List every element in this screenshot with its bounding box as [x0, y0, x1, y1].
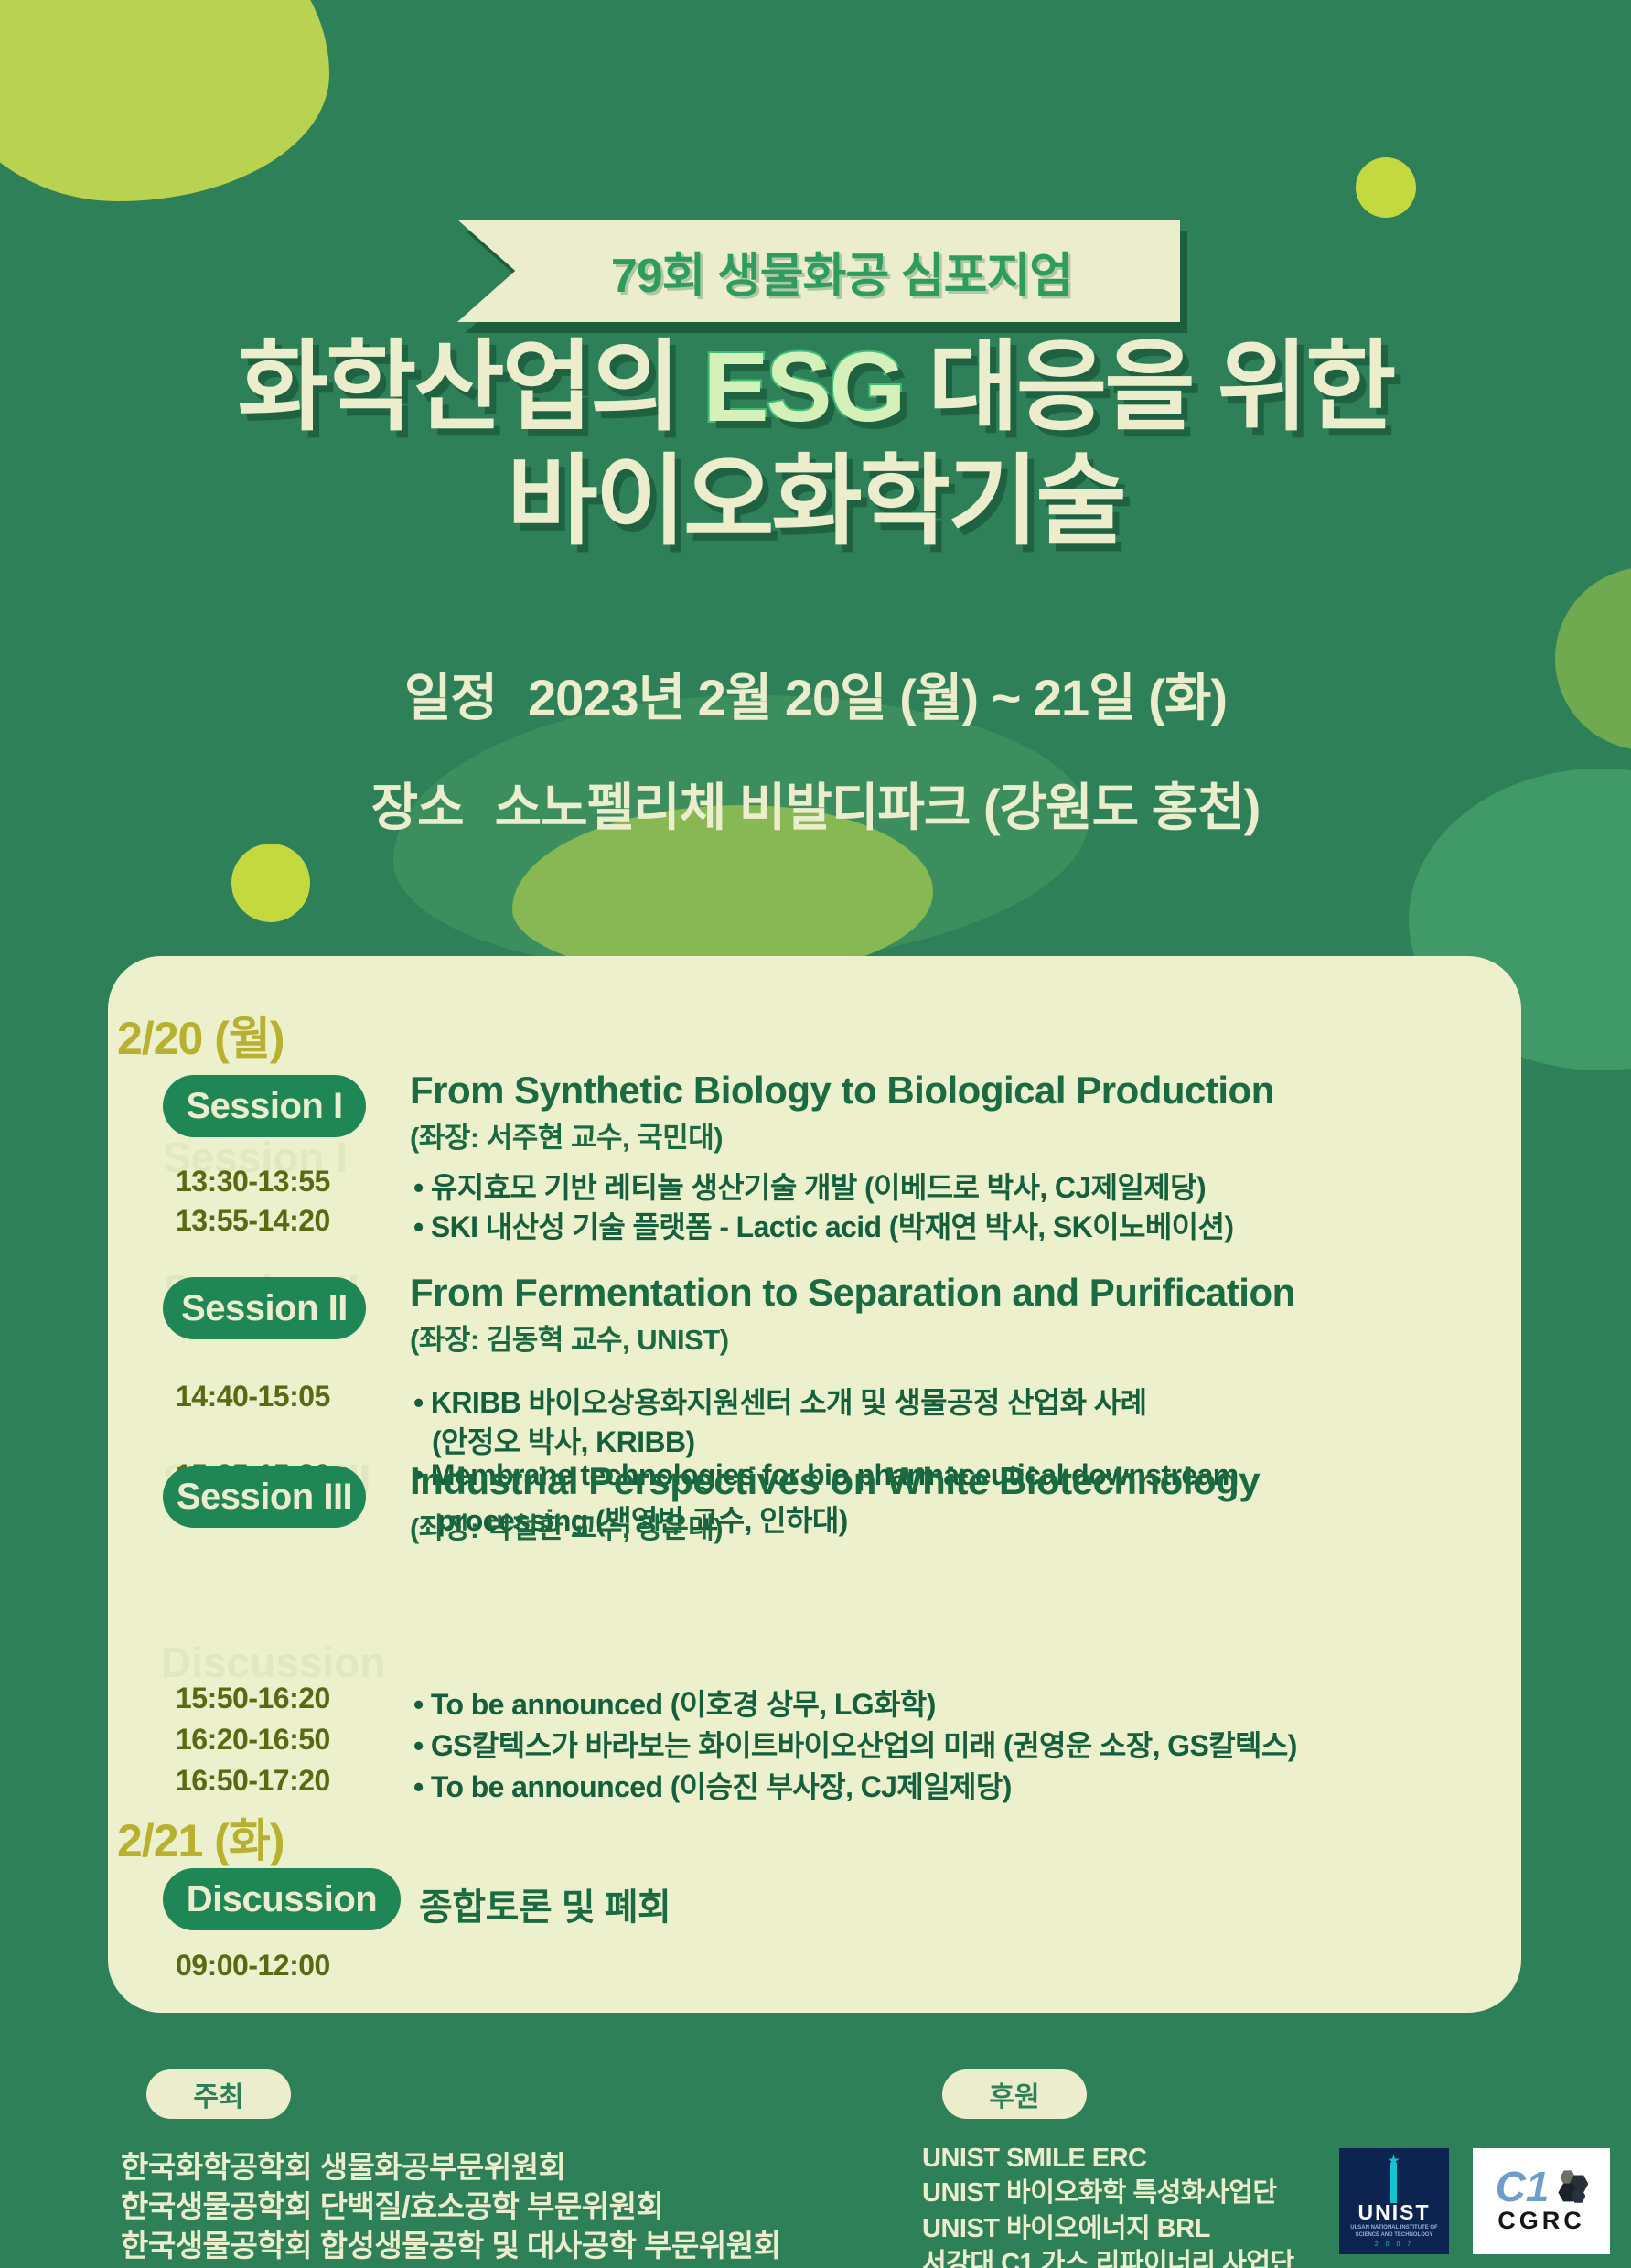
session-chair-1: (좌장: 서주현 교수, 국민대) [410, 1114, 723, 1155]
session-chair-3: (좌장: 박철환 교수, 광운대) [410, 1505, 723, 1546]
host-item: 한국생물공학회 단백질/효소공학 부문위원회 [121, 2187, 780, 2227]
unist-wordmark: UNIST [1358, 2200, 1431, 2225]
decor-blob-top-left [0, 0, 329, 201]
venue-label: 장소 [371, 779, 464, 836]
host-item: 한국화학공학회 생물화공부문위원회 [121, 2148, 780, 2187]
session-title-1: From Synthetic Biology to Biological Pro… [410, 1069, 1274, 1113]
talk-time: 13:55-14:20 [176, 1204, 330, 1238]
talk-time: 16:20-16:50 [176, 1723, 330, 1757]
cgrc-wordmark: CGRC [1497, 2207, 1585, 2235]
talk-title: • To be announced (이호경 상무, LG화학) [413, 1682, 936, 1724]
ribbon-body: 79회 생물화공 심포지엄 [457, 220, 1180, 322]
cgrc-c1-mark: C1 [1496, 2167, 1550, 2208]
day-header-2: 2/21 (화) [117, 1804, 284, 1870]
title-part-a: 화학산업의 [238, 331, 703, 442]
session-pill-3[interactable]: Session III [163, 1466, 366, 1528]
date-value: 2023년 2월 20일 (월) ~ 21일 (화) [528, 669, 1227, 726]
title-line-2: 바이오화학기술 [0, 444, 1631, 558]
talk-title: • To be announced (이승진 부사장, CJ제일제당) [413, 1764, 1012, 1806]
cgrc-logo: C1 CGRC [1473, 2148, 1610, 2254]
discussion-title: 종합토론 및 폐회 [419, 1877, 671, 1930]
sponsor-list: UNIST SMILE ERC UNIST 바이오화학 특성화사업단 UNIST… [922, 2141, 1294, 2268]
sponsor-item: UNIST 바이오화학 특성화사업단 [922, 2176, 1294, 2210]
event-date-row: 일정2023년 2월 20일 (월) ~ 21일 (화) [0, 657, 1631, 731]
session-title-2: From Fermentation to Separation and Puri… [410, 1271, 1295, 1315]
ghost-label-discussion: Discussion [161, 1638, 385, 1687]
talk-time: 14:40-15:05 [176, 1380, 330, 1413]
ribbon-label: 79회 생물화공 심포지엄 [565, 237, 1072, 306]
unist-year: 2 0 0 7 [1375, 2241, 1413, 2248]
date-label: 일정 [404, 669, 497, 726]
talk-title-continued: (안정오 박사, KRIBB) [432, 1419, 695, 1461]
day-header-1: 2/20 (월) [117, 1002, 284, 1068]
talk-time: 13:30-13:55 [176, 1165, 330, 1198]
session-pill-2[interactable]: Session II [163, 1277, 366, 1339]
page-title: 화학산업의 ESG 대응을 위한 바이오화학기술 [0, 329, 1631, 559]
event-venue-row: 장소소노펠리체 비발디파크 (강원도 홍천) [0, 767, 1631, 841]
talk-title: • GS칼텍스가 바라보는 화이트바이오산업의 미래 (권영운 소장, GS칼텍… [413, 1723, 1297, 1765]
cgrc-top-row: C1 [1496, 2167, 1588, 2208]
unist-bar-icon [1390, 2163, 1397, 2203]
hexagon-icon [1551, 2170, 1587, 2205]
session-title-3: Industrial Perspectives on White Biotech… [410, 1459, 1260, 1503]
host-item: 한국생물공학회 합성생물공학 및 대사공학 부문위원회 [121, 2227, 780, 2266]
talk-title: • KRIBB 바이오상용화지원센터 소개 및 생물공정 산업화 사례 [413, 1380, 1146, 1422]
unist-logo: UNIST ULSAN NATIONAL INSTITUTE OF SCIENC… [1339, 2148, 1449, 2254]
title-line-1: 화학산업의 ESG 대응을 위한 [0, 329, 1631, 444]
talk-time: 16:50-17:20 [176, 1764, 330, 1798]
discussion-time: 09:00-12:00 [176, 1949, 330, 1983]
decor-dot-left [231, 844, 310, 922]
sponsor-item: UNIST SMILE ERC [922, 2141, 1294, 2176]
session-chair-2: (좌장: 김동혁 교수, UNIST) [410, 1317, 729, 1358]
decor-dot-top-right [1356, 157, 1416, 218]
discussion-pill[interactable]: Discussion [163, 1868, 401, 1930]
session-pill-1[interactable]: Session I [163, 1075, 366, 1137]
title-esg-highlight: ESG [703, 331, 903, 442]
talk-title: • SKI 내산성 기술 플랫폼 - Lactic acid (박재연 박사, … [413, 1204, 1233, 1246]
unist-subtitle: ULSAN NATIONAL INSTITUTE OF SCIENCE AND … [1339, 2225, 1449, 2240]
venue-value: 소노펠리체 비발디파크 (강원도 홍천) [495, 779, 1261, 836]
title-part-b: 대응을 위한 [904, 331, 1394, 442]
host-badge: 주최 [146, 2069, 291, 2119]
talk-time: 15:50-16:20 [176, 1682, 330, 1715]
sponsor-badge: 후원 [942, 2069, 1087, 2119]
host-list: 한국화학공학회 생물화공부문위원회 한국생물공학회 단백질/효소공학 부문위원회… [121, 2148, 780, 2266]
talk-title: • 유지효모 기반 레티놀 생산기술 개발 (이베드로 박사, CJ제일제당) [413, 1165, 1206, 1207]
sponsor-item: UNIST 바이오에너지 BRL [922, 2211, 1294, 2246]
sponsor-item: 서강대 C1 가스 리파이너리 사업단 [922, 2246, 1294, 2268]
event-ribbon: 79회 생물화공 심포지엄 [457, 220, 1180, 322]
